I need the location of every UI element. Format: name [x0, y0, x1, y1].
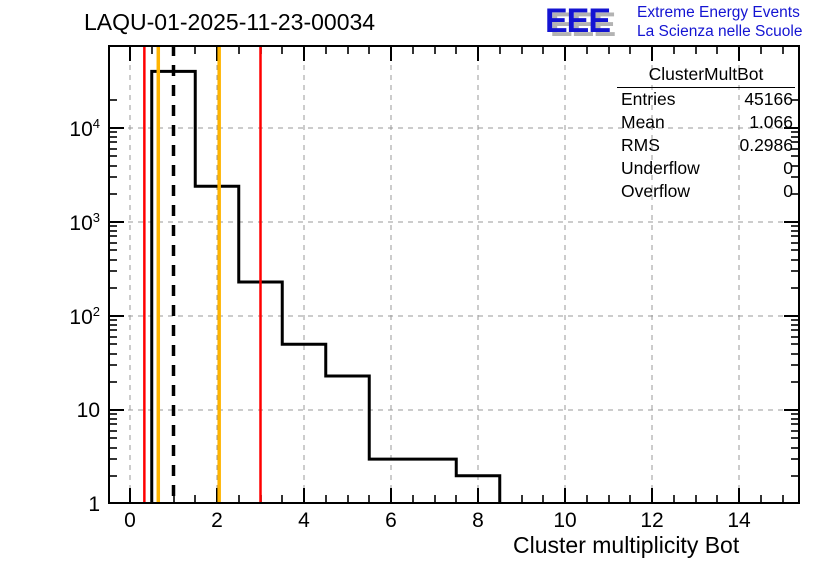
stats-box-title: ClusterMultBot — [617, 63, 795, 88]
eee-logo-mark: EEE EEE — [545, 4, 631, 38]
y-tick-label-1: 1 — [38, 493, 100, 517]
x-tick-label-12: 12 — [632, 509, 672, 533]
y-tick-label-10: 10 — [38, 399, 100, 423]
stats-key-underflow: Underflow — [621, 158, 700, 179]
eee-logo-mark-front: EEE — [545, 4, 610, 38]
stats-key-rms: RMS — [621, 135, 660, 156]
stats-key-mean: Mean — [621, 112, 665, 133]
stats-value-mean: 1.066 — [749, 112, 793, 133]
stats-key-overflow: Overflow — [621, 181, 690, 202]
x-tick-label-10: 10 — [545, 509, 585, 533]
eee-logo-text: Extreme Energy Events La Scienza nelle S… — [637, 3, 802, 41]
y-tick-label-1e2: 102 — [38, 304, 100, 330]
eee-logo-line1: Extreme Energy Events — [637, 3, 802, 22]
stats-row-rms: RMS 0.2986 — [613, 134, 799, 157]
x-axis-title: Cluster multiplicity Bot — [513, 532, 739, 559]
stats-row-entries: Entries 45166 — [613, 88, 799, 111]
x-tick-label-2: 2 — [197, 509, 237, 533]
eee-logo-line2: La Scienza nelle Scuole — [637, 22, 802, 41]
stats-row-underflow: Underflow 0 — [613, 157, 799, 180]
x-tick-label-14: 14 — [719, 509, 759, 533]
stats-value-rms: 0.2986 — [739, 135, 793, 156]
x-tick-label-0: 0 — [110, 509, 150, 533]
stats-value-overflow: 0 — [783, 181, 793, 202]
x-tick-label-6: 6 — [371, 509, 411, 533]
eee-logo: EEE EEE Extreme Energy Events La Scienza… — [545, 2, 833, 42]
stats-box: ClusterMultBot Entries 45166 Mean 1.066 … — [613, 63, 799, 203]
y-tick-label-1e3: 103 — [38, 210, 100, 236]
page-title: LAQU-01-2025-11-23-00034 — [84, 9, 375, 36]
stats-key-entries: Entries — [621, 89, 675, 110]
stats-value-entries: 45166 — [744, 89, 793, 110]
y-tick-label-1e4: 104 — [38, 116, 100, 142]
stats-value-underflow: 0 — [783, 158, 793, 179]
x-tick-label-8: 8 — [458, 509, 498, 533]
stats-row-mean: Mean 1.066 — [613, 111, 799, 134]
stats-row-overflow: Overflow 0 — [613, 180, 799, 203]
x-tick-label-4: 4 — [284, 509, 324, 533]
